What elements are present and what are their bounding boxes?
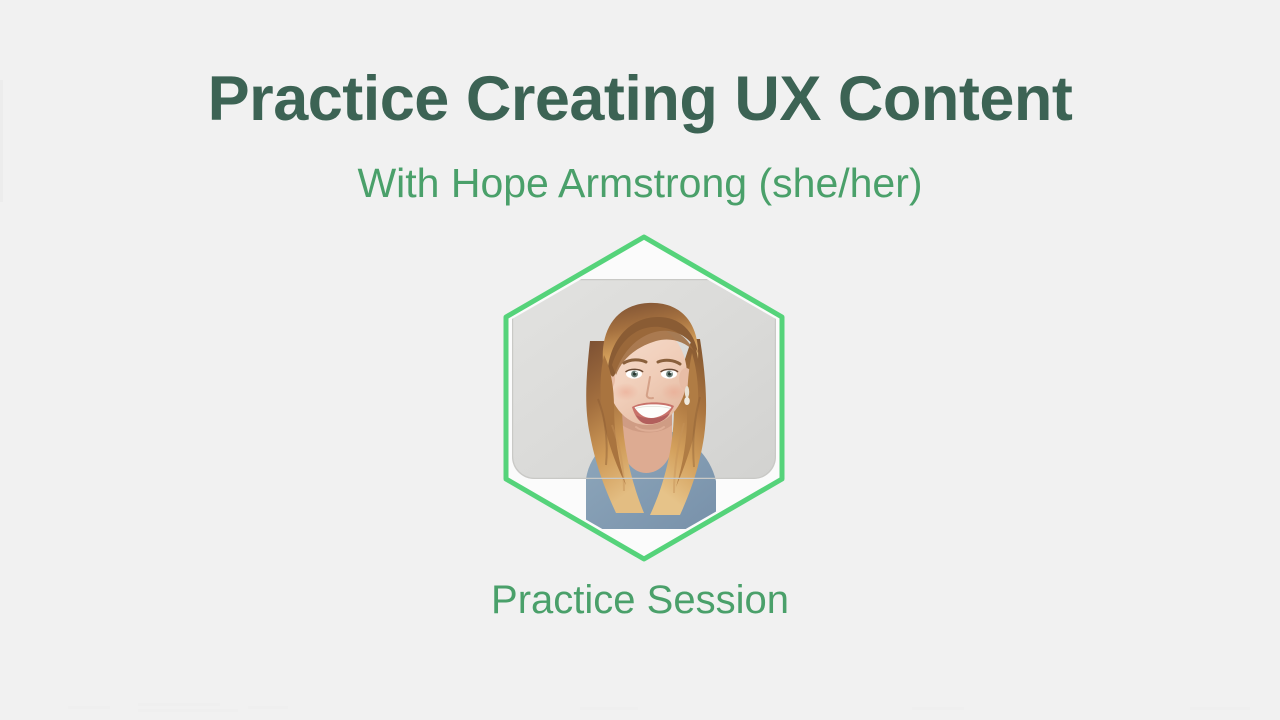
slide-title: Practice Creating UX Content bbox=[0, 68, 1280, 131]
slide-caption: Practice Session bbox=[0, 580, 1280, 620]
player-ghost-control-a bbox=[68, 706, 110, 709]
player-ghost-control-c bbox=[138, 709, 238, 712]
player-ghost-control-f bbox=[912, 707, 964, 710]
player-ghost-control-e bbox=[580, 707, 638, 710]
player-ghost-control-b bbox=[138, 703, 220, 706]
slide-subtitle-presenter: With Hope Armstrong (she/her) bbox=[0, 163, 1280, 204]
presentation-slide: Practice Creating UX Content With Hope A… bbox=[0, 0, 1280, 720]
player-ghost-control-g bbox=[1190, 707, 1250, 710]
avatar bbox=[494, 229, 794, 567]
player-ghost-control-d bbox=[248, 706, 288, 709]
